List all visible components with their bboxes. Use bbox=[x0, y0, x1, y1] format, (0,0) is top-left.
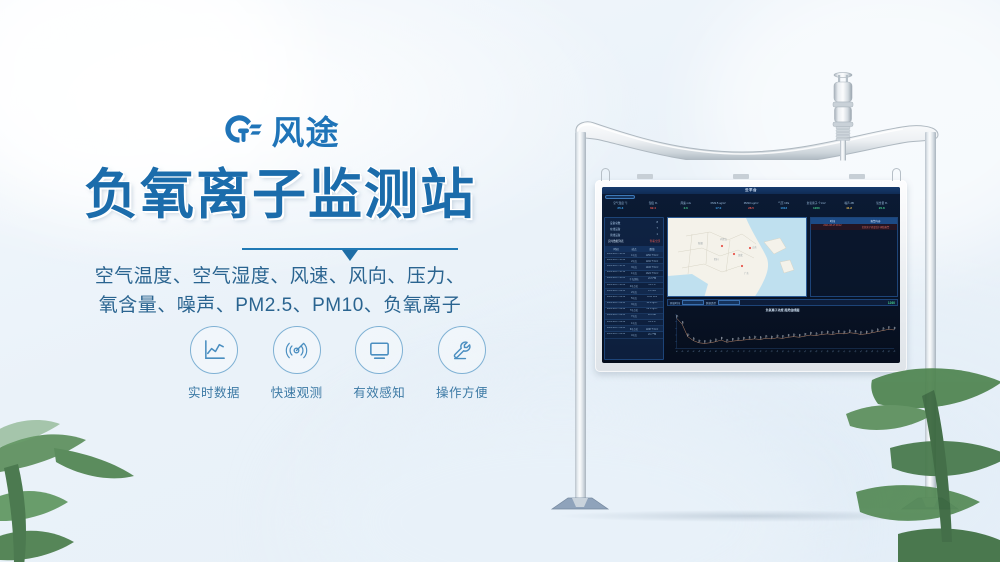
table-cell: 7号点 bbox=[625, 314, 643, 318]
svg-text:22: 22 bbox=[793, 350, 796, 353]
feature-label: 实时数据 bbox=[178, 382, 250, 401]
metric-value: 1013 bbox=[767, 206, 800, 211]
line-chart-icon bbox=[190, 326, 238, 374]
data-list-panel: 设备总数 8 在线设备 7 离线设备 1 bbox=[604, 217, 664, 360]
svg-text:14: 14 bbox=[748, 350, 751, 353]
svg-text:27: 27 bbox=[821, 350, 824, 353]
svg-text:15: 15 bbox=[754, 350, 757, 353]
svg-text:33: 33 bbox=[854, 350, 857, 353]
subtitle-block: 空气温度、空气湿度、风速、风向、压力、 氧含量、噪声、PM2.5、PM10、负氧… bbox=[0, 262, 560, 321]
alert-panel: 时间 报警内容 2021-08-17 09:12 负氧离子浓度低于阈值报警 bbox=[810, 217, 898, 297]
stat-label: 离线设备 bbox=[610, 233, 620, 237]
svg-text:35: 35 bbox=[866, 350, 869, 353]
svg-text:16: 16 bbox=[760, 350, 763, 353]
table-cell: 7号点位 bbox=[625, 308, 643, 312]
table-cell: 1013 hPa bbox=[643, 296, 661, 300]
metric-card: 湿度 % 62.4 bbox=[637, 201, 670, 214]
table-cell: 1250 个/cm³ bbox=[643, 253, 661, 257]
table-cell: 1号点 bbox=[625, 321, 643, 325]
metric-value: 62.4 bbox=[637, 206, 670, 211]
alert-time: 2021-08-17 09:12 bbox=[811, 225, 854, 229]
metric-value: 2.6 bbox=[669, 206, 702, 211]
table-cell: 1188 个/cm³ bbox=[643, 327, 661, 331]
table-body: 2021-08-17 10:251号点1250 个/cm³2021-08-17 … bbox=[605, 252, 663, 339]
table-cell: 1406 个/cm³ bbox=[643, 265, 661, 269]
subtitle-line-1: 空气温度、空气湿度、风速、风向、压力、 bbox=[0, 262, 560, 291]
china-map-widget[interactable]: 新疆内蒙古 四川湖北 山东广东 bbox=[667, 217, 807, 297]
table-cell: 2021-08-17 10:25 bbox=[607, 253, 625, 257]
svg-text:04: 04 bbox=[693, 350, 696, 353]
start-time-label: 开始时间 bbox=[670, 301, 680, 305]
table-row[interactable]: 2021-08-17 09:204号点21.7 ℃ bbox=[605, 332, 663, 338]
table-cell: 2021-08-17 09:35 bbox=[607, 314, 625, 318]
table-cell: 2021-08-17 09:20 bbox=[607, 333, 625, 337]
stat-value: 7 bbox=[657, 227, 658, 231]
radar-signal-icon bbox=[273, 326, 321, 374]
feature-label: 快速观测 bbox=[261, 382, 333, 401]
mount-bracket-1 bbox=[637, 174, 653, 179]
svg-text:39: 39 bbox=[888, 350, 891, 353]
svg-text:19: 19 bbox=[776, 350, 779, 353]
table-cell: 千岛湖站 bbox=[625, 277, 643, 281]
table-cell: 40.8 dB bbox=[643, 314, 661, 318]
column-header: 站点 bbox=[625, 247, 643, 251]
metric-value: 1260 bbox=[800, 206, 833, 211]
metric-value: 28.5 bbox=[735, 206, 768, 211]
display-frame: 云平台 空气温度 ℃ 25.3 湿度 % 62.4 风速 m/s bbox=[595, 180, 907, 372]
table-cell: 6号点位 bbox=[625, 327, 643, 331]
wind-cloud-logo-icon bbox=[221, 112, 263, 152]
svg-text:26: 26 bbox=[815, 350, 818, 353]
wave-canopy-icon bbox=[572, 118, 940, 160]
table-cell: 1号点 bbox=[625, 253, 643, 257]
feature-label: 操作方便 bbox=[426, 382, 498, 401]
station-tag-chip[interactable] bbox=[605, 195, 635, 199]
stat-label: 设备总数 bbox=[610, 221, 620, 225]
data-list-title-row: 实时数据列表 查看全部 bbox=[605, 238, 663, 244]
table-cell: 2号点 bbox=[625, 290, 643, 294]
current-value-readout: 1260 bbox=[888, 301, 895, 305]
svg-text:07: 07 bbox=[709, 350, 712, 353]
svg-text:08: 08 bbox=[715, 350, 718, 353]
metric-card: PM2.5 ug/m³ 17.0 bbox=[702, 201, 735, 214]
map-graphic: 新疆内蒙古 四川湖北 山东广东 bbox=[668, 218, 807, 297]
svg-text:四川: 四川 bbox=[714, 258, 719, 261]
svg-text:10: 10 bbox=[726, 350, 729, 353]
table-cell: 2021-08-17 09:55 bbox=[607, 290, 625, 294]
subtitle-line-2: 氧含量、噪声、PM2.5、PM10、负氧离子 bbox=[0, 291, 560, 320]
support-pole-left bbox=[575, 132, 586, 500]
table-cell: 1322 个/cm³ bbox=[643, 271, 661, 275]
display-screen[interactable]: 云平台 空气温度 ℃ 25.3 湿度 % 62.4 风速 m/s bbox=[602, 187, 900, 363]
brand-logo: 风途 bbox=[0, 112, 560, 152]
metric-card: 气压 hPa 1013 bbox=[767, 201, 800, 214]
svg-text:13: 13 bbox=[743, 350, 746, 353]
table-cell: 2021-08-17 09:45 bbox=[607, 302, 625, 306]
metric-card: PM10 ug/m³ 28.5 bbox=[735, 201, 768, 214]
svg-text:12: 12 bbox=[737, 350, 740, 353]
chart-control-bar: 开始时间 数据类型 1260 bbox=[667, 299, 898, 306]
stat-value: 1 bbox=[657, 233, 658, 237]
table-cell: 2021-08-17 10:15 bbox=[607, 265, 625, 269]
svg-text:28: 28 bbox=[827, 350, 830, 353]
base-plate-left bbox=[550, 494, 610, 512]
table-cell: 2021-08-17 09:40 bbox=[607, 308, 625, 312]
column-header: 数值 bbox=[643, 247, 661, 251]
alert-row: 2021-08-17 09:12 负氧离子浓度低于阈值报警 bbox=[811, 224, 897, 230]
decorative-leaves-right bbox=[838, 356, 1000, 562]
svg-text:34: 34 bbox=[860, 350, 863, 353]
brand-name: 风途 bbox=[272, 116, 340, 149]
svg-text:25: 25 bbox=[810, 350, 813, 353]
column-header: 时间 bbox=[607, 247, 625, 251]
data-type-select[interactable] bbox=[718, 300, 740, 305]
table-cell: 2号点 bbox=[625, 259, 643, 263]
alert-column-header: 报警内容 bbox=[854, 218, 897, 224]
table-cell: 20.9 % bbox=[643, 321, 661, 325]
svg-text:24: 24 bbox=[804, 350, 807, 353]
svg-text:新疆: 新疆 bbox=[698, 241, 703, 245]
svg-text:38: 38 bbox=[882, 350, 885, 353]
stat-label: 在线设备 bbox=[610, 227, 620, 231]
svg-text:18: 18 bbox=[771, 350, 774, 353]
table-cell: 1号点 bbox=[625, 271, 643, 275]
svg-text:17: 17 bbox=[765, 350, 768, 353]
svg-text:37: 37 bbox=[877, 350, 880, 353]
svg-text:11: 11 bbox=[732, 350, 735, 353]
poster-canvas: 风途 负氧离子监测站 空气温度、空气湿度、风速、风向、压力、 氧含量、噪声、PM… bbox=[0, 0, 1000, 562]
mount-bracket-3 bbox=[849, 174, 865, 179]
svg-text:31: 31 bbox=[843, 350, 846, 353]
dashboard-title: 云平台 bbox=[602, 188, 900, 193]
svg-text:05: 05 bbox=[698, 350, 701, 353]
table-cell: 21.5 ℃ bbox=[643, 277, 661, 281]
svg-text:01: 01 bbox=[676, 350, 679, 353]
feature-item-realtime-data[interactable]: 实时数据 bbox=[178, 326, 250, 401]
svg-text:23: 23 bbox=[799, 350, 802, 353]
mount-bracket-2 bbox=[733, 174, 749, 179]
feature-item-fast-observation[interactable]: 快速观测 bbox=[261, 326, 333, 401]
table-cell: 1184 个/cm³ bbox=[643, 259, 661, 263]
wrench-tool-icon bbox=[438, 326, 486, 374]
metric-card: 氧含量 % 20.8 bbox=[865, 201, 898, 214]
svg-text:09: 09 bbox=[721, 350, 724, 353]
table-cell: 21.7 ℃ bbox=[643, 333, 661, 337]
hanger-right bbox=[892, 168, 901, 181]
feature-item-easy-operation[interactable]: 操作方便 bbox=[426, 326, 498, 401]
table-cell: 5号点 bbox=[625, 296, 643, 300]
table-cell: 4号点 bbox=[625, 333, 643, 337]
table-cell: 2021-08-17 09:50 bbox=[607, 296, 625, 300]
metric-card: 风速 m/s 2.6 bbox=[669, 201, 702, 214]
table-cell: 4号点位 bbox=[625, 284, 643, 288]
monitor-screen-icon bbox=[355, 326, 403, 374]
alert-column-header: 时间 bbox=[811, 218, 854, 224]
metric-value: 25.3 bbox=[604, 206, 637, 211]
svg-text:32: 32 bbox=[849, 350, 852, 353]
feature-list: 实时数据 快速观测 bbox=[178, 326, 498, 401]
dashboard-ui: 云平台 空气温度 ℃ 25.3 湿度 % 62.4 风速 m/s bbox=[602, 187, 900, 363]
stat-value: 8 bbox=[657, 221, 658, 225]
view-all-badge[interactable]: 查看全部 bbox=[650, 239, 660, 243]
table-cell: 2021-08-17 10:20 bbox=[607, 259, 625, 263]
table-cell: 2021-08-17 10:05 bbox=[607, 277, 625, 281]
triangle-down-divider-icon bbox=[242, 248, 458, 260]
start-date-input[interactable] bbox=[682, 300, 704, 305]
chart-canvas: 0102030405060708091011121314151617181920… bbox=[667, 312, 898, 358]
svg-text:20: 20 bbox=[782, 350, 785, 353]
svg-text:山东: 山东 bbox=[752, 245, 757, 249]
alert-header: 时间 报警内容 bbox=[811, 218, 897, 224]
data-list-title: 实时数据列表 bbox=[608, 239, 624, 243]
table-cell: 2021-08-17 09:25 bbox=[607, 327, 625, 331]
metric-card: 空气温度 ℃ 25.3 bbox=[604, 201, 637, 214]
metric-value: 17.0 bbox=[702, 206, 735, 211]
trend-chart: 负氧离子浓度 趋势曲线图 010203040506070809101112131… bbox=[667, 308, 898, 360]
svg-text:湖北: 湖北 bbox=[738, 253, 743, 257]
table-cell: 3号点 bbox=[625, 265, 643, 269]
table-cell: 2021-08-17 09:30 bbox=[607, 321, 625, 325]
metric-card: 噪声 dB 41.2 bbox=[833, 201, 866, 214]
table-cell: 2021-08-17 10:00 bbox=[607, 284, 625, 288]
hanger-left bbox=[601, 168, 610, 181]
table-cell: 29.1 ug/m³ bbox=[643, 308, 661, 312]
svg-text:30: 30 bbox=[838, 350, 841, 353]
svg-text:06: 06 bbox=[704, 350, 707, 353]
metric-cards-row: 空气温度 ℃ 25.3 湿度 % 62.4 风速 m/s 2.6 PM2.5 bbox=[604, 201, 898, 214]
table-cell: 61.3 % bbox=[643, 284, 661, 288]
table-cell: 3号点 bbox=[625, 302, 643, 306]
svg-text:40: 40 bbox=[893, 350, 896, 353]
svg-text:21: 21 bbox=[787, 350, 790, 353]
alert-message: 负氧离子浓度低于阈值报警 bbox=[854, 225, 897, 229]
table-cell: 18.2 ug/m³ bbox=[643, 302, 661, 306]
data-type-label: 数据类型 bbox=[706, 301, 716, 305]
decorative-leaves-left bbox=[0, 336, 184, 562]
metric-card: 负氧离子 个/cm³ 1260 bbox=[800, 201, 833, 214]
svg-text:内蒙古: 内蒙古 bbox=[720, 237, 728, 241]
table-cell: 2021-08-17 10:10 bbox=[607, 271, 625, 275]
svg-text:29: 29 bbox=[832, 350, 835, 353]
page-title: 负氧离子监测站 bbox=[0, 168, 560, 222]
svg-text:03: 03 bbox=[687, 350, 690, 353]
table-cell: 2.4 m/s bbox=[643, 290, 661, 294]
svg-text:02: 02 bbox=[681, 350, 684, 353]
metric-value: 41.2 bbox=[833, 206, 866, 211]
feature-label: 有效感知 bbox=[343, 382, 415, 401]
metric-value: 20.8 bbox=[865, 206, 898, 211]
ultrasonic-weather-sensor-icon bbox=[823, 68, 863, 163]
feature-item-effective-sensing[interactable]: 有效感知 bbox=[343, 326, 415, 401]
svg-text:广东: 广东 bbox=[744, 271, 749, 275]
svg-text:36: 36 bbox=[871, 350, 874, 353]
divider-triangle bbox=[342, 250, 358, 261]
